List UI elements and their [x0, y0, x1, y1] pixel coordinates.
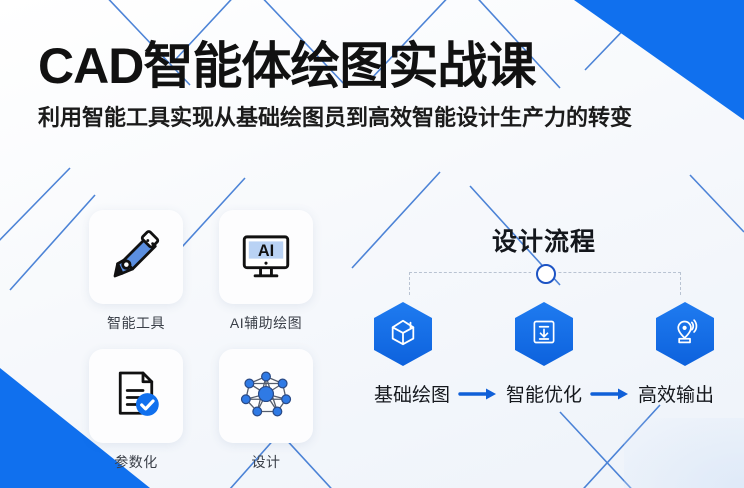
flow-step-label-efficient-output: 高效输出: [638, 380, 714, 407]
flow-step-icon-smart-optimize[interactable]: [515, 302, 573, 366]
flow-arrow-icon: [458, 387, 498, 401]
flow-heading: 设计流程: [360, 222, 728, 258]
flow-hub-node-icon: [536, 264, 556, 284]
feature-label: 智能工具: [107, 313, 165, 333]
flow-hex-row: [360, 302, 728, 366]
feature-label: AI辅助绘图: [230, 313, 302, 333]
feature-label: 参数化: [114, 452, 158, 472]
design-flow-panel: 设计流程: [360, 222, 728, 407]
feature-grid: 智能工具 AI AI辅助绘图: [88, 210, 314, 472]
page-title: CAD智能体绘图实战课: [38, 40, 718, 93]
feature-item-ai-drawing[interactable]: AI AI辅助绘图: [218, 210, 314, 333]
feature-card[interactable]: [89, 349, 183, 443]
feature-item-design[interactable]: 设计: [218, 349, 314, 472]
flow-connector: [409, 272, 679, 298]
location-pin-icon: [671, 317, 700, 351]
flow-step-icon-efficient-output[interactable]: [656, 302, 714, 366]
feature-card[interactable]: [219, 349, 313, 443]
document-down-icon: [530, 318, 558, 351]
cube-box-icon: [388, 317, 418, 352]
svg-text:AI: AI: [258, 241, 274, 259]
flow-step-label-smart-optimize: 智能优化: [506, 380, 582, 407]
feature-label: 设计: [252, 452, 281, 472]
page-subtitle: 利用智能工具实现从基础绘图员到高效智能设计生产力的转变: [38, 105, 718, 131]
feature-item-parametric[interactable]: 参数化: [88, 349, 184, 472]
pen-tool-icon: [108, 227, 164, 288]
feature-card[interactable]: [89, 210, 183, 304]
corner-glow-bottom-right: [624, 418, 744, 488]
network-nodes-icon: [238, 366, 294, 427]
feature-item-smart-tools[interactable]: 智能工具: [88, 210, 184, 333]
flow-step-labels: 基础绘图 智能优化 高效输出: [360, 380, 728, 407]
poster-header: CAD智能体绘图实战课 利用智能工具实现从基础绘图员到高效智能设计生产力的转变: [38, 40, 718, 131]
flow-step-label-basic-drawing: 基础绘图: [374, 380, 450, 407]
ai-monitor-icon: AI: [237, 226, 295, 289]
document-check-icon: [108, 366, 164, 427]
flow-arrow-icon: [590, 387, 630, 401]
flow-step-icon-basic-drawing[interactable]: [374, 302, 432, 366]
feature-card[interactable]: AI: [219, 210, 313, 304]
poster-canvas: CAD智能体绘图实战课 利用智能工具实现从基础绘图员到高效智能设计生产力的转变: [0, 0, 744, 488]
